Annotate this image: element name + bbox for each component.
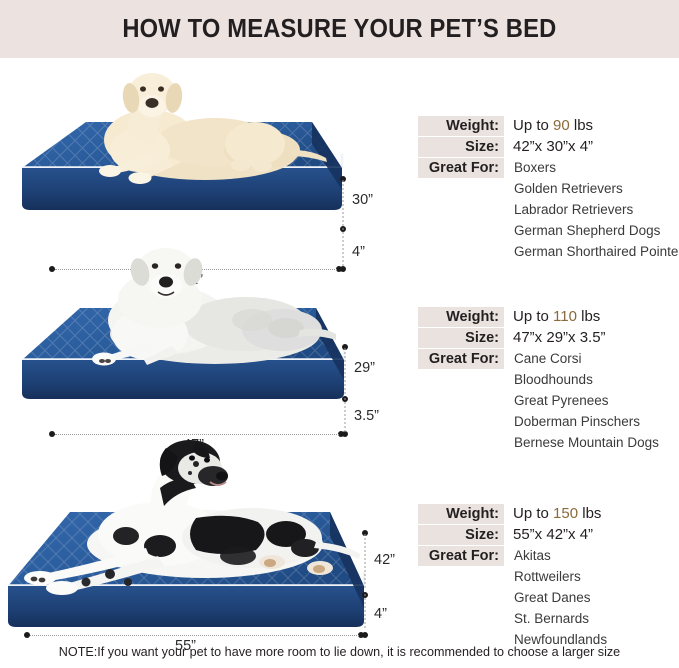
spec-row-weight: Weight: Up to 90 lbs [418, 116, 679, 137]
breed-item: Bloodhounds [504, 370, 593, 390]
weight-number: 90 [553, 117, 570, 134]
breed-item: Akitas [504, 546, 551, 566]
weight-number: 110 [553, 308, 577, 325]
weight-number: 150 [553, 505, 578, 522]
size-label: Size: [418, 137, 504, 157]
spec-row-weight: Weight: Up to 150 lbs [418, 504, 607, 525]
weight-value: Up to 110 lbs [504, 307, 600, 326]
breed-row: Labrador Retrievers [418, 200, 679, 221]
size-value: 42”x 30”x 4” [504, 137, 593, 156]
breed-item: St. Bernards [504, 609, 589, 629]
breed-row: Great Pyrenees [418, 391, 659, 412]
great-for-label: Great For: [418, 158, 504, 178]
weight-value: Up to 150 lbs [504, 504, 601, 523]
bed-illustration-large [0, 426, 420, 647]
breed-row: Bloodhounds [418, 370, 659, 391]
weight-prefix: Up to [513, 117, 553, 134]
breed-item: Cane Corsi [504, 349, 582, 369]
bed-svg-large [0, 426, 420, 642]
spec-row-weight: Weight: Up to 110 lbs [418, 307, 659, 328]
dim-label-height: 4” [374, 606, 387, 622]
footer-note: NOTE:If you want your pet to have more r… [0, 645, 679, 659]
weight-value: Up to 90 lbs [504, 116, 593, 135]
size-value: 55”x 42”x 4” [504, 525, 593, 544]
spec-row-great-for: Great For: Cane Corsi [418, 349, 659, 370]
breed-item: Boxers [504, 158, 556, 178]
breed-item: Golden Retrievers [504, 179, 623, 199]
weight-prefix: Up to [513, 505, 553, 522]
breed-row: Golden Retrievers [418, 179, 679, 200]
dim-label-width: 42” [374, 552, 395, 568]
breed-item: Labrador Retrievers [504, 200, 633, 220]
size-value: 47”x 29”x 3.5” [504, 328, 606, 347]
great-for-label: Great For: [418, 546, 504, 566]
great-for-label: Great For: [418, 349, 504, 369]
weight-label: Weight: [418, 504, 504, 524]
spec-row-size: Size: 47”x 29”x 3.5” [418, 328, 659, 349]
breed-row: Rottweilers [418, 567, 607, 588]
dog-great-pyrenees [92, 248, 336, 366]
weight-unit: lbs [577, 308, 600, 325]
weight-unit: lbs [570, 117, 593, 134]
spec-row-great-for: Great For: Boxers [418, 158, 679, 179]
breed-row: St. Bernards [418, 609, 607, 630]
breed-row: Great Danes [418, 588, 607, 609]
dim-line-length [30, 635, 359, 636]
page-header: HOW TO MEASURE YOUR PET’S BED [0, 0, 679, 58]
bed-row-large: 55” 42” 4” Weight: Up to 150 lbs Size: 5… [0, 426, 679, 642]
size-label: Size: [418, 525, 504, 545]
breed-item: Great Pyrenees [504, 391, 609, 411]
bed-row-small: 42” 30” 4” Weight: Up to 90 lbs Size: 42… [0, 58, 679, 238]
dim-label-width: 30” [352, 192, 373, 208]
size-label: Size: [418, 328, 504, 348]
breed-item: Great Danes [504, 588, 591, 608]
weight-unit: lbs [578, 505, 601, 522]
spec-row-size: Size: 55”x 42”x 4” [418, 525, 607, 546]
spec-block-large: Weight: Up to 150 lbs Size: 55”x 42”x 4”… [418, 504, 607, 651]
breed-item: Rottweilers [504, 567, 581, 587]
dim-line-depth-height [338, 344, 358, 439]
page-title: HOW TO MEASURE YOUR PET’S BED [122, 15, 556, 44]
bed-row-medium: 47” 29” 3.5” Weight: Up to 110 lbs Size:… [0, 238, 679, 426]
dim-label-width: 29” [354, 360, 375, 376]
spec-row-size: Size: 42”x 30”x 4” [418, 137, 679, 158]
bed-front-face [22, 360, 344, 399]
dim-label-height: 3.5” [354, 408, 379, 424]
spec-row-great-for: Great For: Akitas [418, 546, 607, 567]
weight-prefix: Up to [513, 308, 553, 325]
weight-label: Weight: [418, 116, 504, 136]
weight-label: Weight: [418, 307, 504, 327]
